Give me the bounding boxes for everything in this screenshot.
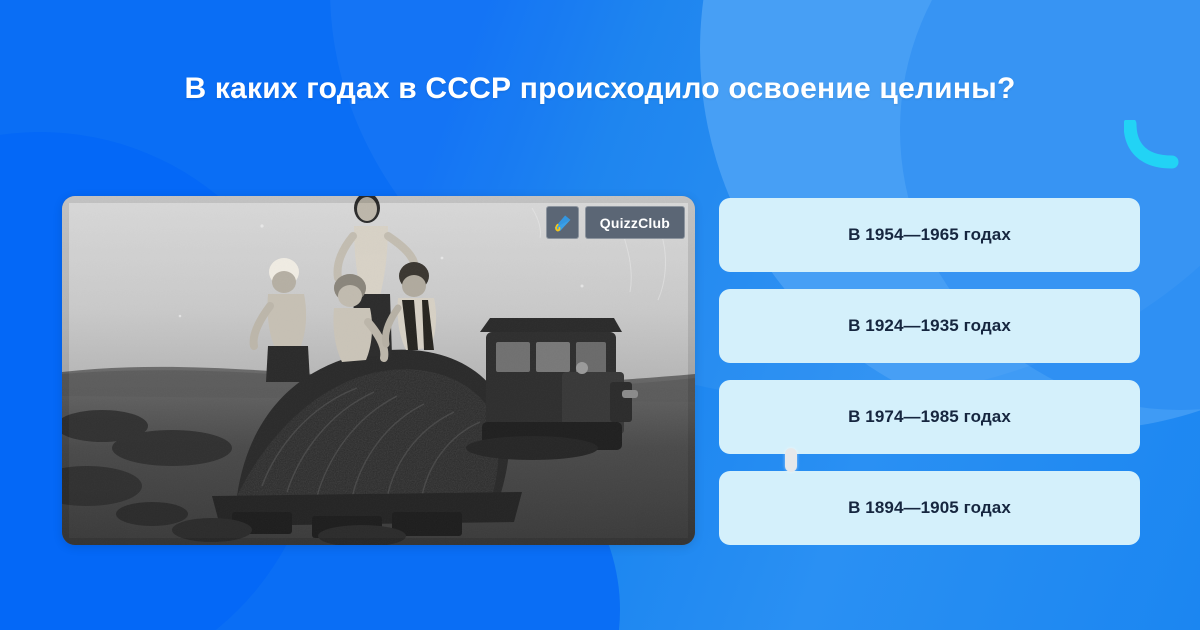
- graduation-cap-icon: [546, 206, 579, 239]
- phone-handset-arc-icon: [1124, 120, 1180, 172]
- page-title: В каких годах в СССР происходило освоени…: [0, 72, 1200, 106]
- answer-option-4[interactable]: В 1894—1905 годах: [719, 471, 1140, 545]
- answer-option-1[interactable]: В 1954—1965 годах: [719, 198, 1140, 272]
- question-photo: [62, 196, 695, 545]
- question-image-card: QuizzClub: [62, 196, 695, 545]
- answer-option-3[interactable]: В 1974—1985 годах: [719, 380, 1140, 454]
- scroll-indicator[interactable]: [785, 448, 797, 472]
- answer-option-2[interactable]: В 1924—1935 годах: [719, 289, 1140, 363]
- watermark-brand: QuizzClub: [585, 206, 685, 239]
- quiz-card: В каких годах в СССР происходило освоени…: [0, 0, 1200, 630]
- answer-options-list: В 1954—1965 годах В 1924—1935 годах В 19…: [719, 198, 1140, 545]
- watermark: QuizzClub: [546, 206, 685, 239]
